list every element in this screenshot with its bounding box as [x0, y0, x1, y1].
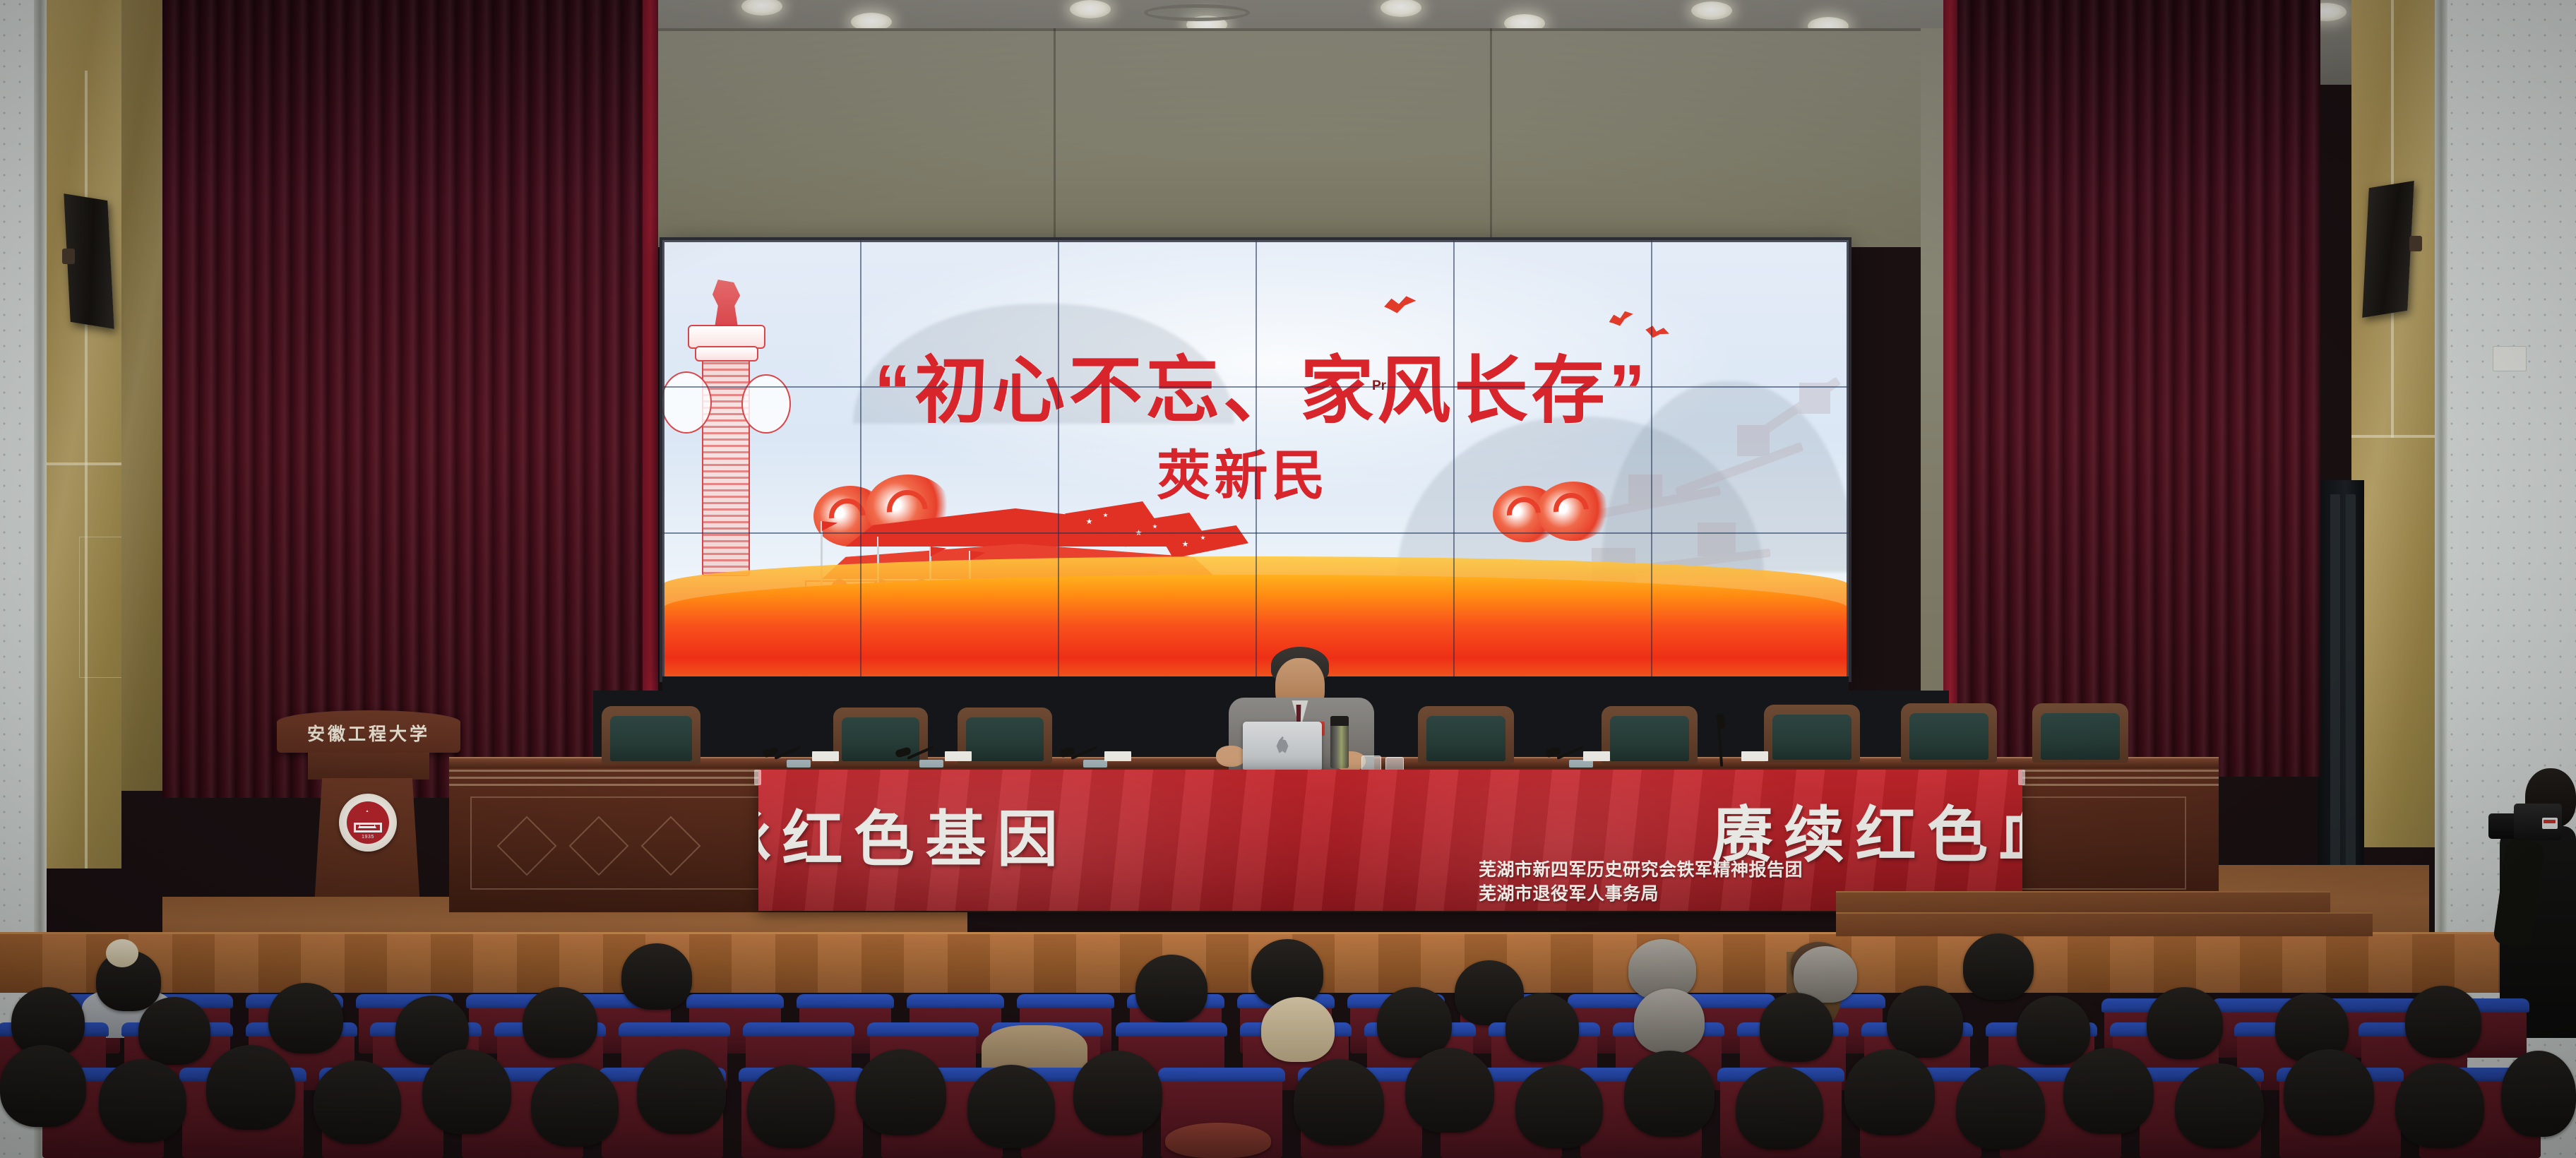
audience-head — [747, 1065, 835, 1148]
curtain-edge-left — [643, 0, 658, 798]
wall-panel-seam — [85, 71, 88, 868]
great-wall-tower — [1698, 523, 1736, 556]
seat-headrest — [1017, 994, 1114, 1008]
audience-head — [637, 1049, 726, 1134]
table-microphone[interactable] — [763, 741, 819, 767]
audience-head — [138, 997, 210, 1065]
stage-step — [1836, 891, 2330, 915]
audience-head — [523, 987, 597, 1058]
great-wall-tower — [1628, 474, 1662, 506]
seat-headrest — [686, 994, 784, 1008]
chair-cushion — [1610, 716, 1689, 761]
chair-cushion — [1909, 713, 1988, 760]
bottle-cap — [1330, 716, 1349, 726]
banner-org-line-1: 芜湖市新四军历史研究会铁军精神报告团 — [1479, 856, 1803, 881]
seat-headrest — [867, 1022, 979, 1037]
banner-tie-strap — [754, 770, 761, 785]
audience-head — [1956, 1065, 2045, 1150]
table-name-card — [1104, 751, 1131, 761]
table-microphone[interactable] — [1709, 717, 1737, 767]
led-tile-seam — [1651, 240, 1652, 679]
audience-head — [1261, 997, 1335, 1062]
chair-cushion — [966, 717, 1044, 761]
huabiao-column — [702, 342, 750, 576]
banner-org-line-2: 芜湖市退役军人事务局 — [1479, 880, 1659, 905]
audience-head — [1760, 993, 1833, 1062]
stage-chair[interactable] — [1418, 706, 1514, 764]
great-wall-tower — [1737, 425, 1770, 456]
recessed-downlight — [1070, 0, 1111, 18]
audience-head — [1634, 989, 1705, 1053]
audience-head — [856, 1049, 946, 1135]
event-banner: 传承红色基因 赓续红色血脉 芜湖市新四军历史研究会铁军精神报告团 芜湖市退役军人… — [758, 770, 2022, 911]
audience-head — [0, 1045, 86, 1127]
audience-head — [531, 1063, 619, 1147]
led-tile-seam — [662, 532, 1849, 534]
audience-head — [314, 1061, 401, 1144]
audience-head — [1624, 1051, 1715, 1137]
macbook-laptop[interactable] — [1243, 722, 1322, 770]
audience-head — [2405, 986, 2481, 1058]
speaker-mount-bracket — [2409, 236, 2422, 251]
audience-head — [1887, 986, 1963, 1058]
audience-head — [1844, 1049, 1935, 1135]
mic-gooseneck — [774, 746, 801, 760]
huabiao-cloud-left — [662, 371, 712, 434]
chair-cushion — [1772, 715, 1851, 760]
led-tile-seam — [1256, 240, 1257, 679]
lecture-hall-photo: “初心不忘、家风长存” Pr 莢新民 — [0, 0, 2576, 1158]
apple-logo-icon — [1275, 736, 1289, 753]
audience-head — [268, 983, 343, 1053]
curtain-edge-right — [1943, 0, 1957, 777]
audience-head — [2395, 1063, 2484, 1148]
huabiao-cloud-right — [741, 374, 791, 434]
emblem-disc: 1935 — [347, 801, 389, 844]
stage-chair[interactable] — [602, 706, 700, 764]
huabiao-capital — [688, 325, 765, 349]
audience-head — [1073, 1051, 1162, 1135]
audience-head — [1135, 955, 1207, 1022]
seat-headrest — [619, 1022, 730, 1037]
stage-chair[interactable] — [1901, 703, 1997, 763]
audience-head — [422, 1049, 511, 1134]
audience-head — [2501, 1051, 2576, 1137]
audience-head — [2284, 1049, 2374, 1135]
camera-brand-accent — [2544, 820, 2556, 823]
water-bottle — [1330, 722, 1349, 768]
audience-head — [1405, 1048, 1494, 1133]
mic-gooseneck — [1071, 746, 1097, 760]
audience-head — [1963, 933, 2034, 1000]
mic-gooseneck — [907, 746, 934, 760]
led-tile-seam — [662, 386, 1849, 388]
stage-chair[interactable] — [2032, 703, 2128, 763]
audience-head — [967, 1065, 1055, 1148]
led-video-wall: “初心不忘、家风长存” Pr 莢新民 — [662, 240, 1849, 679]
ceiling-ring-fixture — [1144, 4, 1250, 21]
doorway-slat — [2346, 494, 2356, 918]
back-wall-upper — [636, 28, 1953, 247]
mic-base — [919, 760, 943, 768]
banner-tie-strap — [2018, 770, 2025, 785]
led-tile-seam — [1453, 240, 1455, 679]
slide-title: “初心不忘、家风长存” — [874, 330, 1649, 437]
seat-headrest — [797, 994, 894, 1008]
seat-headrest — [1116, 1022, 1227, 1037]
audience-head — [621, 943, 692, 1010]
table-name-card — [945, 751, 972, 761]
wall-panel-seam — [2351, 435, 2435, 438]
stage-chair[interactable] — [1602, 706, 1698, 764]
small-flag — [822, 521, 837, 531]
university-emblem: 1935 — [339, 794, 397, 852]
table-name-card — [1583, 751, 1610, 761]
audience-head — [1505, 993, 1579, 1062]
back-wall-seam — [1490, 28, 1492, 247]
audience-head — [1736, 1066, 1823, 1150]
speaker-hand-left — [1216, 746, 1246, 767]
recessed-downlight — [1691, 1, 1732, 20]
huabiao-plate — [695, 346, 758, 362]
table-name-card — [812, 751, 839, 761]
back-wall-seam — [1054, 28, 1056, 247]
emblem-year-label: 1935 — [347, 835, 389, 840]
wall-panel-seam — [47, 462, 121, 465]
wall-switch-plate[interactable] — [2493, 346, 2527, 371]
seat-headrest — [743, 1022, 854, 1037]
stage-curtain-left — [162, 0, 657, 798]
chair-cushion — [2041, 713, 2120, 760]
led-tile-seam — [1058, 240, 1059, 679]
seat-headrest — [1158, 1068, 1285, 1082]
audience-head — [1294, 1059, 1384, 1145]
right-stage-doorway — [2318, 480, 2364, 932]
stage-step — [1836, 912, 2373, 936]
audience-head — [2147, 987, 2223, 1059]
audience-head — [206, 1045, 295, 1130]
audience-head — [1165, 1123, 1271, 1158]
lectern-venue-label: 安徽工程大学 — [277, 720, 460, 746]
mic-base — [1083, 760, 1107, 768]
lectern-header-board: 安徽工程大学 — [277, 710, 460, 753]
stage-chair[interactable] — [958, 708, 1052, 764]
doorway-slat — [2330, 494, 2340, 918]
led-tile-seam — [860, 240, 861, 679]
audience-head — [1515, 1065, 1603, 1148]
mic-base — [787, 760, 811, 768]
stage-curtain-right — [1953, 0, 2320, 777]
audience-head — [1251, 939, 1323, 1007]
audience-head — [1377, 987, 1452, 1058]
audience-head — [2017, 996, 2090, 1065]
audience-head — [2175, 1063, 2264, 1148]
lectern-neck — [308, 753, 429, 780]
mic-gooseneck — [1717, 724, 1723, 767]
back-wall-seam — [636, 28, 1953, 31]
audience-head — [99, 1059, 186, 1142]
chair-cushion — [1426, 716, 1505, 761]
chair-cushion — [610, 716, 692, 761]
seat-headrest — [907, 994, 1004, 1008]
emblem-shape — [354, 823, 382, 832]
left-gold-wall-panel — [47, 0, 121, 868]
audience-head — [2063, 1048, 2154, 1134]
speaker-mount-bracket — [62, 249, 75, 264]
stage-chair[interactable] — [1764, 705, 1860, 763]
wall-inset-panel — [79, 537, 123, 678]
left-stage-wall — [121, 0, 162, 791]
wall-speaker — [2362, 181, 2414, 318]
table-name-card — [1741, 751, 1768, 761]
mic-gooseneck — [1556, 746, 1583, 760]
hair-accessory — [106, 939, 138, 967]
table-microphone[interactable] — [895, 741, 952, 767]
